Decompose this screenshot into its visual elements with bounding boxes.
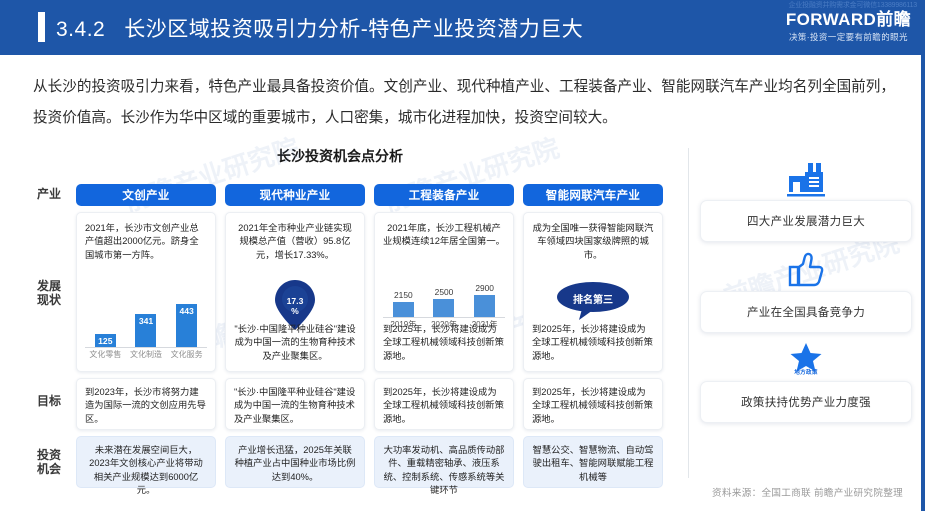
column-header-equipment[interactable]: 工程装备产业 bbox=[374, 184, 514, 206]
thumbs-up-icon-svg bbox=[786, 252, 826, 290]
bar-group: 125 341 443 bbox=[85, 289, 207, 347]
status-subnote-equipment: 到2025年，长沙将建设成为全球工程机械领域科技创新策源地。 bbox=[383, 323, 505, 363]
opportunity-text-equipment: 大功率发动机、高品质传动部件、重载精密轴承、液压系统、控制系统、传感系统等关键环… bbox=[383, 444, 505, 498]
summary-group-competitive: 产业在全国具备竞争力 bbox=[700, 251, 912, 333]
status-text-seed: 2021年全市种业产业链实现规模总产值（营收）95.8亿元，增长17.33%。 bbox=[234, 222, 356, 262]
goal-card-seed: "长沙·中国隆平种业硅谷"建设成为中国一流的生物育种技术及产业聚集区。 bbox=[225, 378, 365, 430]
bar-cultural-retail: 125 bbox=[95, 334, 116, 347]
bar-axis-line bbox=[383, 317, 505, 318]
slide-header: 企业投融资并购需求金可微信13389986113 3.4.2 长沙区域投资吸引力… bbox=[0, 0, 925, 55]
bar-item: 2500 bbox=[429, 287, 459, 317]
row-label-status: 发展 现状 bbox=[28, 278, 70, 308]
bar-item: 443 bbox=[172, 304, 202, 347]
summary-box-policy[interactable]: 政策扶持优势产业力度强 bbox=[700, 381, 912, 423]
goal-text-seed: "长沙·中国隆平种业硅谷"建设成为中国一流的生物育种技术及产业聚集区。 bbox=[234, 386, 356, 426]
bar-label: 文化零售 bbox=[88, 349, 122, 363]
bar-equipment-2019 bbox=[393, 302, 414, 317]
row-label-goal: 目标 bbox=[28, 394, 70, 410]
bar-chart-cultural: 125 341 443 bbox=[85, 285, 207, 363]
intro-paragraph: 从长沙的投资吸引力来看，特色产业最具备投资价值。文创产业、现代种植产业、工程装备… bbox=[33, 72, 895, 134]
bar-item: 125 bbox=[90, 334, 120, 347]
row-label-status-line2: 现状 bbox=[28, 293, 70, 307]
summary-group-industry: 四大产业发展潜力巨大 bbox=[700, 160, 912, 242]
status-card-seed: 2021年全市种业产业链实现规模总产值（营收）95.8亿元，增长17.33%。 … bbox=[225, 212, 365, 372]
summary-panel: 四大产业发展潜力巨大 产业在全国具备竞争力 地方政策 政策扶持 bbox=[700, 160, 912, 432]
bubble-label: 排名第三 bbox=[555, 291, 631, 306]
opportunity-text-cultural: 未来潜在发展空间巨大，2023年文创核心产业将带动相关产业规模达到6000亿元。 bbox=[85, 444, 207, 498]
bar-group: 2150 2500 2900 bbox=[383, 281, 505, 317]
summary-group-policy: 地方政策 政策扶持优势产业力度强 bbox=[700, 342, 912, 423]
pin-value-group: 17.3 % bbox=[273, 297, 317, 316]
status-text-iov: 成为全国唯一获得智能网联汽车领域四块国家级牌照的城市。 bbox=[532, 222, 654, 262]
status-card-equipment: 2021年底，长沙工程机械产业规模连续12年居全国第一。 2150 2500 2… bbox=[374, 212, 514, 372]
status-card-cultural: 2021年，长沙市文创产业总产值超出2000亿元。跻身全国城市第一方阵。 125… bbox=[76, 212, 216, 372]
factory-icon-svg bbox=[785, 161, 827, 199]
status-subnote-seed: "长沙·中国隆平种业硅谷"建设成为中国一流的生物育种技术及产业聚集区。 bbox=[234, 323, 356, 363]
goal-text-iov: 到2025年，长沙将建设成为全球工程机械领域科技创新策源地。 bbox=[532, 386, 654, 426]
page-title: 3.4.2 长沙区域投资吸引力分析-特色产业投资潜力巨大 bbox=[56, 13, 583, 43]
header-contact-note: 企业投融资并购需求金可微信13389986113 bbox=[788, 0, 917, 10]
bar-value: 2500 bbox=[435, 287, 454, 297]
goal-card-iov: 到2025年，长沙将建设成为全球工程机械领域科技创新策源地。 bbox=[523, 378, 663, 430]
status-card-iov: 成为全国唯一获得智能网联汽车领域四块国家级牌照的城市。 排名第三 到2025年，… bbox=[523, 212, 663, 372]
bar-equipment-2020 bbox=[433, 299, 454, 317]
row-label-opportunity-line2: 机会 bbox=[28, 462, 70, 476]
bar-cultural-manufacturing: 341 bbox=[135, 314, 156, 347]
status-subnote-iov: 到2025年，长沙将建设成为全球工程机械领域科技创新策源地。 bbox=[532, 323, 654, 363]
goal-text-equipment: 到2025年，长沙将建设成为全球工程机械领域科技创新策源地。 bbox=[383, 386, 505, 426]
title-accent-bar bbox=[38, 12, 45, 42]
bar-axis-line bbox=[85, 347, 207, 348]
column-header-seed[interactable]: 现代种业产业 bbox=[225, 184, 365, 206]
status-text-cultural: 2021年，长沙市文创产业总产值超出2000亿元。跻身全国城市第一方阵。 bbox=[85, 222, 207, 262]
bar-value: 125 bbox=[95, 336, 116, 346]
bar-item: 2900 bbox=[470, 283, 500, 317]
opportunity-card-cultural: 未来潜在发展空间巨大，2023年文创核心产业将带动相关产业规模达到6000亿元。 bbox=[76, 436, 216, 488]
source-note: 资料来源：全国工商联 前瞻产业研究院整理 bbox=[712, 485, 903, 499]
column-header-cultural[interactable]: 文创产业 bbox=[76, 184, 216, 206]
bar-label: 文化制造 bbox=[129, 349, 163, 363]
opportunity-card-seed: 产业增长迅猛，2025年关联种植产业占中国种业市场比例达到40%。 bbox=[225, 436, 365, 488]
column-header-iov[interactable]: 智能网联汽车产业 bbox=[523, 184, 663, 206]
bar-label-group: 文化零售 文化制造 文化服务 bbox=[85, 349, 207, 363]
bar-equipment-2021 bbox=[474, 295, 495, 317]
summary-label-industry: 四大产业发展潜力巨大 bbox=[747, 213, 865, 229]
brand-logo: FORWARD前瞻 决策·投资一定要有前瞻的眼光 bbox=[786, 11, 911, 43]
bar-item: 2150 bbox=[388, 290, 418, 317]
row-label-opportunity: 投资 机会 bbox=[28, 447, 70, 477]
brand-name: FORWARD前瞻 bbox=[786, 11, 911, 29]
bubble-graphic-wrap: 排名第三 bbox=[524, 281, 662, 321]
summary-label-policy: 政策扶持优势产业力度强 bbox=[741, 394, 871, 410]
section-number: 3.4.2 bbox=[56, 18, 105, 41]
pin-unit: % bbox=[273, 307, 317, 317]
bar-item: 341 bbox=[131, 314, 161, 347]
summary-box-competitive[interactable]: 产业在全国具备竞争力 bbox=[700, 291, 912, 333]
bar-cultural-service: 443 bbox=[176, 304, 197, 347]
summary-label-competitive: 产业在全国具备竞争力 bbox=[747, 304, 865, 320]
bar-value: 2900 bbox=[475, 283, 494, 293]
opportunity-text-iov: 智慧公交、智慧物流、自动驾驶出租车、智能网联赋能工程机械等 bbox=[532, 444, 654, 484]
brand-slogan: 决策·投资一定要有前瞻的眼光 bbox=[786, 31, 911, 43]
speech-bubble-icon: 排名第三 bbox=[555, 281, 631, 321]
opportunity-card-equipment: 大功率发动机、高品质传动部件、重载精密轴承、液压系统、控制系统、传感系统等关键环… bbox=[374, 436, 514, 488]
row-label-status-line1: 发展 bbox=[28, 279, 70, 293]
bar-value: 2150 bbox=[394, 290, 413, 300]
opportunity-text-seed: 产业增长迅猛，2025年关联种植产业占中国种业市场比例达到40%。 bbox=[234, 444, 356, 484]
slide-page: 企业投融资并购需求金可微信13389986113 3.4.2 长沙区域投资吸引力… bbox=[0, 0, 925, 511]
bar-label: 文化服务 bbox=[170, 349, 204, 363]
matrix-title: 长沙投资机会点分析 bbox=[0, 146, 680, 166]
factory-icon bbox=[700, 160, 912, 200]
row-label-opportunity-line1: 投资 bbox=[28, 448, 70, 462]
bar-value: 443 bbox=[176, 306, 197, 316]
status-text-equipment: 2021年底，长沙工程机械产业规模连续12年居全国第一。 bbox=[383, 222, 505, 249]
section-title: 长沙区域投资吸引力分析-特色产业投资潜力巨大 bbox=[124, 18, 583, 41]
goal-card-equipment: 到2025年，长沙将建设成为全球工程机械领域科技创新策源地。 bbox=[374, 378, 514, 430]
opportunity-matrix: 产业 发展 现状 目标 投资 机会 文创产业 2021年，长沙市文创产业总产值超… bbox=[28, 182, 673, 477]
star-icon-caption: 地方政策 bbox=[700, 368, 912, 376]
summary-box-industry[interactable]: 四大产业发展潜力巨大 bbox=[700, 200, 912, 242]
panel-divider bbox=[688, 148, 689, 478]
thumbs-up-icon bbox=[700, 251, 912, 291]
opportunity-card-iov: 智慧公交、智慧物流、自动驾驶出租车、智能网联赋能工程机械等 bbox=[523, 436, 663, 488]
row-label-industry: 产业 bbox=[28, 187, 70, 203]
bar-value: 341 bbox=[135, 316, 156, 326]
goal-text-cultural: 到2023年，长沙市将努力建造为国际一流的文创应用先导区。 bbox=[85, 386, 207, 426]
right-edge-bar bbox=[921, 55, 925, 511]
goal-card-cultural: 到2023年，长沙市将努力建造为国际一流的文创应用先导区。 bbox=[76, 378, 216, 430]
